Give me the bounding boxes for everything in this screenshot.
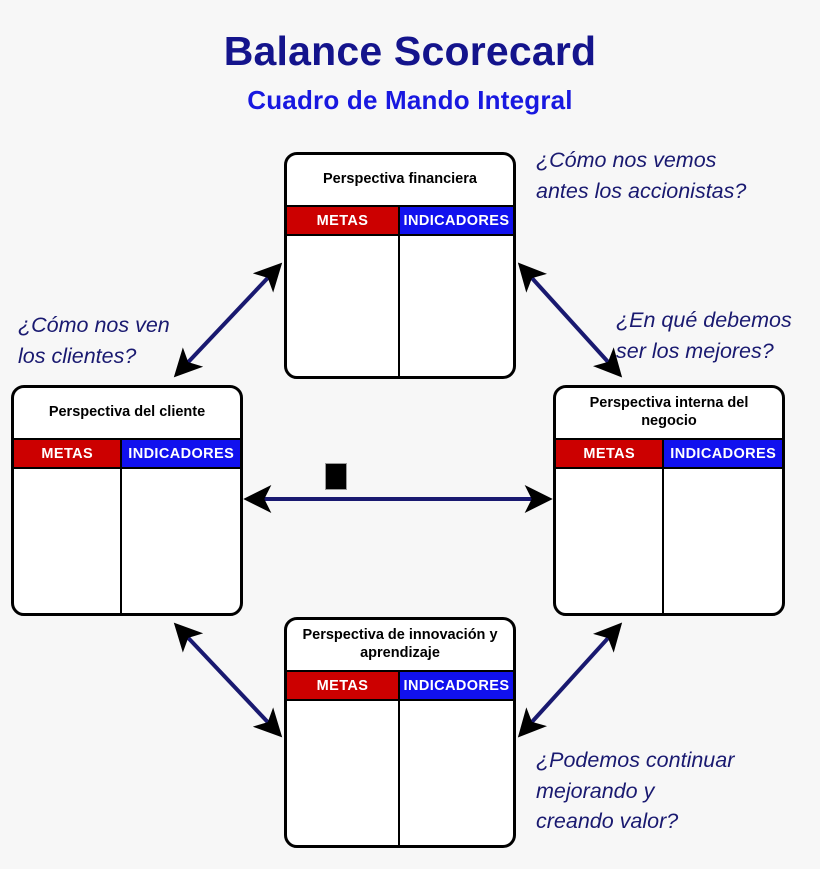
page-subtitle: Cuadro de Mando Integral [0,85,820,116]
card-title-innovacion: Perspectiva de innovación y aprendizaje [287,620,513,670]
body-metas-innovacion[interactable] [287,701,400,845]
question-financiera: ¿Cómo nos vemos antes los accionistas? [536,145,746,206]
question-cliente: ¿Cómo nos ven los clientes? [18,310,170,371]
body-indicadores-innovacion[interactable] [400,701,513,845]
band-innovacion: METAS INDICADORES [287,670,513,701]
band-indicadores-innovacion[interactable]: INDICADORES [400,672,513,699]
connector-cliente-innovacion [177,626,279,734]
card-perspectiva-financiera[interactable]: Perspectiva financiera METAS INDICADORES [284,152,516,379]
balance-scorecard-diagram: Balance Scorecard Cuadro de Mando Integr… [0,0,820,869]
body-financiera [287,236,513,376]
card-title-financiera: Perspectiva financiera [287,155,513,205]
card-perspectiva-del-cliente[interactable]: Perspectiva del cliente METAS INDICADORE… [11,385,243,616]
body-metas-financiera[interactable] [287,236,400,376]
band-cliente: METAS INDICADORES [14,438,240,469]
band-metas-financiera[interactable]: METAS [287,207,400,234]
body-metas-cliente[interactable] [14,469,122,613]
band-metas-innovacion[interactable]: METAS [287,672,400,699]
connector-financiera-interna [521,266,619,374]
centre-square-marker [325,463,347,490]
body-interna [556,469,782,613]
body-indicadores-cliente[interactable] [122,469,240,613]
band-financiera: METAS INDICADORES [287,205,513,236]
body-cliente [14,469,240,613]
card-perspectiva-de-innovacion-y-aprendizaje[interactable]: Perspectiva de innovación y aprendizaje … [284,617,516,848]
band-indicadores-cliente[interactable]: INDICADORES [122,440,240,467]
band-indicadores-financiera[interactable]: INDICADORES [400,207,513,234]
card-perspectiva-interna-del-negocio[interactable]: Perspectiva interna del negocio METAS IN… [553,385,785,616]
band-metas-interna[interactable]: METAS [556,440,664,467]
body-indicadores-financiera[interactable] [400,236,513,376]
card-title-interna: Perspectiva interna del negocio [556,388,782,438]
page-title: Balance Scorecard [0,28,820,75]
connector-financiera-cliente [177,266,279,374]
card-title-cliente: Perspectiva del cliente [14,388,240,438]
band-interna: METAS INDICADORES [556,438,782,469]
band-metas-cliente[interactable]: METAS [14,440,122,467]
band-indicadores-interna[interactable]: INDICADORES [664,440,782,467]
body-innovacion [287,701,513,845]
connector-innovacion-interna [521,626,619,734]
body-indicadores-interna[interactable] [664,469,782,613]
body-metas-interna[interactable] [556,469,664,613]
question-interna: ¿En qué debemos ser los mejores? [616,305,792,366]
question-innovacion: ¿Podemos continuar mejorando y creando v… [536,745,734,837]
